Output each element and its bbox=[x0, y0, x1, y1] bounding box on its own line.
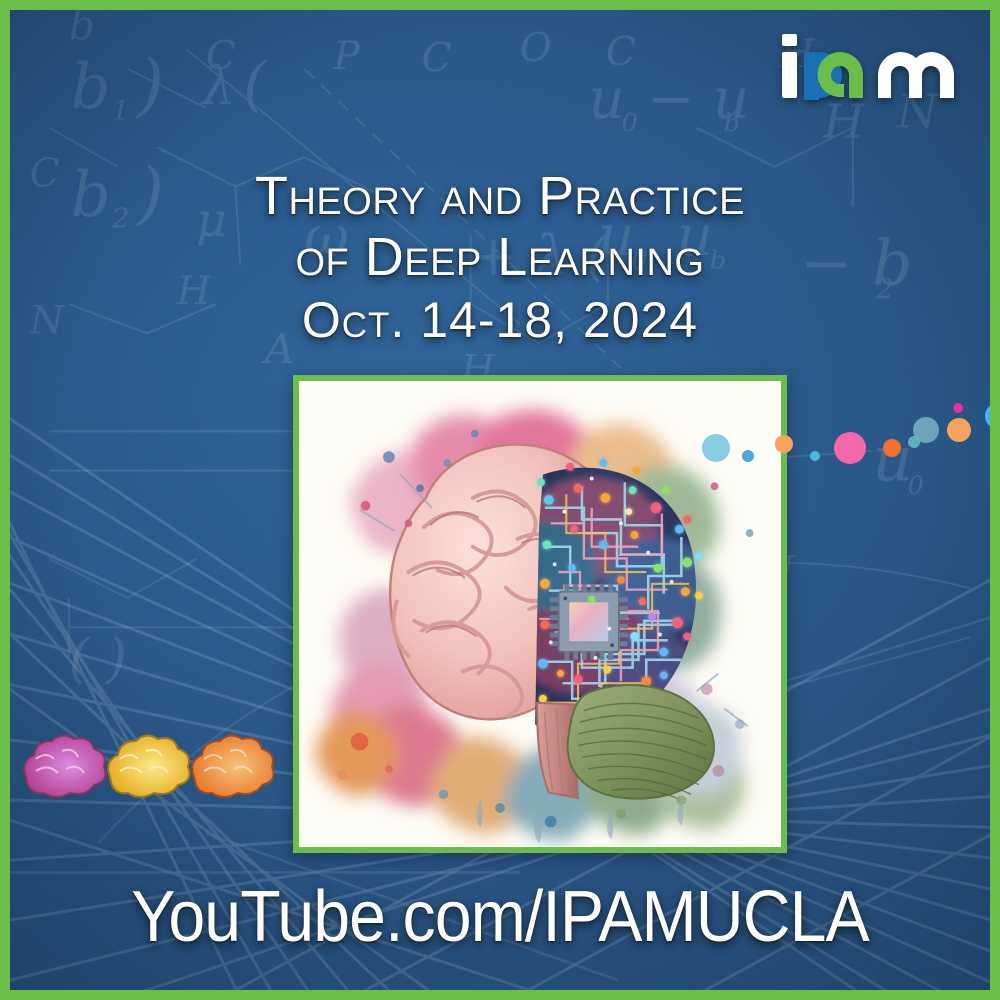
orange-brain-icon bbox=[192, 735, 273, 797]
poster-canvas: b 1 ) b 2 ) λ ( ω μ + λ ( u 0 − u b u 0 … bbox=[0, 0, 1000, 1000]
yellow-brain-icon bbox=[108, 735, 189, 797]
microchip bbox=[550, 584, 628, 660]
event-dates: Oct. 14-18, 2024 bbox=[10, 291, 990, 349]
ipam-logo[interactable] bbox=[778, 24, 968, 108]
youtube-url[interactable]: YouTube.com/IPAMUCLA bbox=[49, 876, 951, 958]
page-title-line-1: Theory and Practice bbox=[255, 166, 745, 226]
purple-brain-icon bbox=[24, 735, 105, 797]
colorful-dots-trail bbox=[700, 390, 1000, 500]
page-title-line-2: of Deep Learning bbox=[10, 227, 990, 287]
mini-brain-icons bbox=[14, 725, 274, 815]
